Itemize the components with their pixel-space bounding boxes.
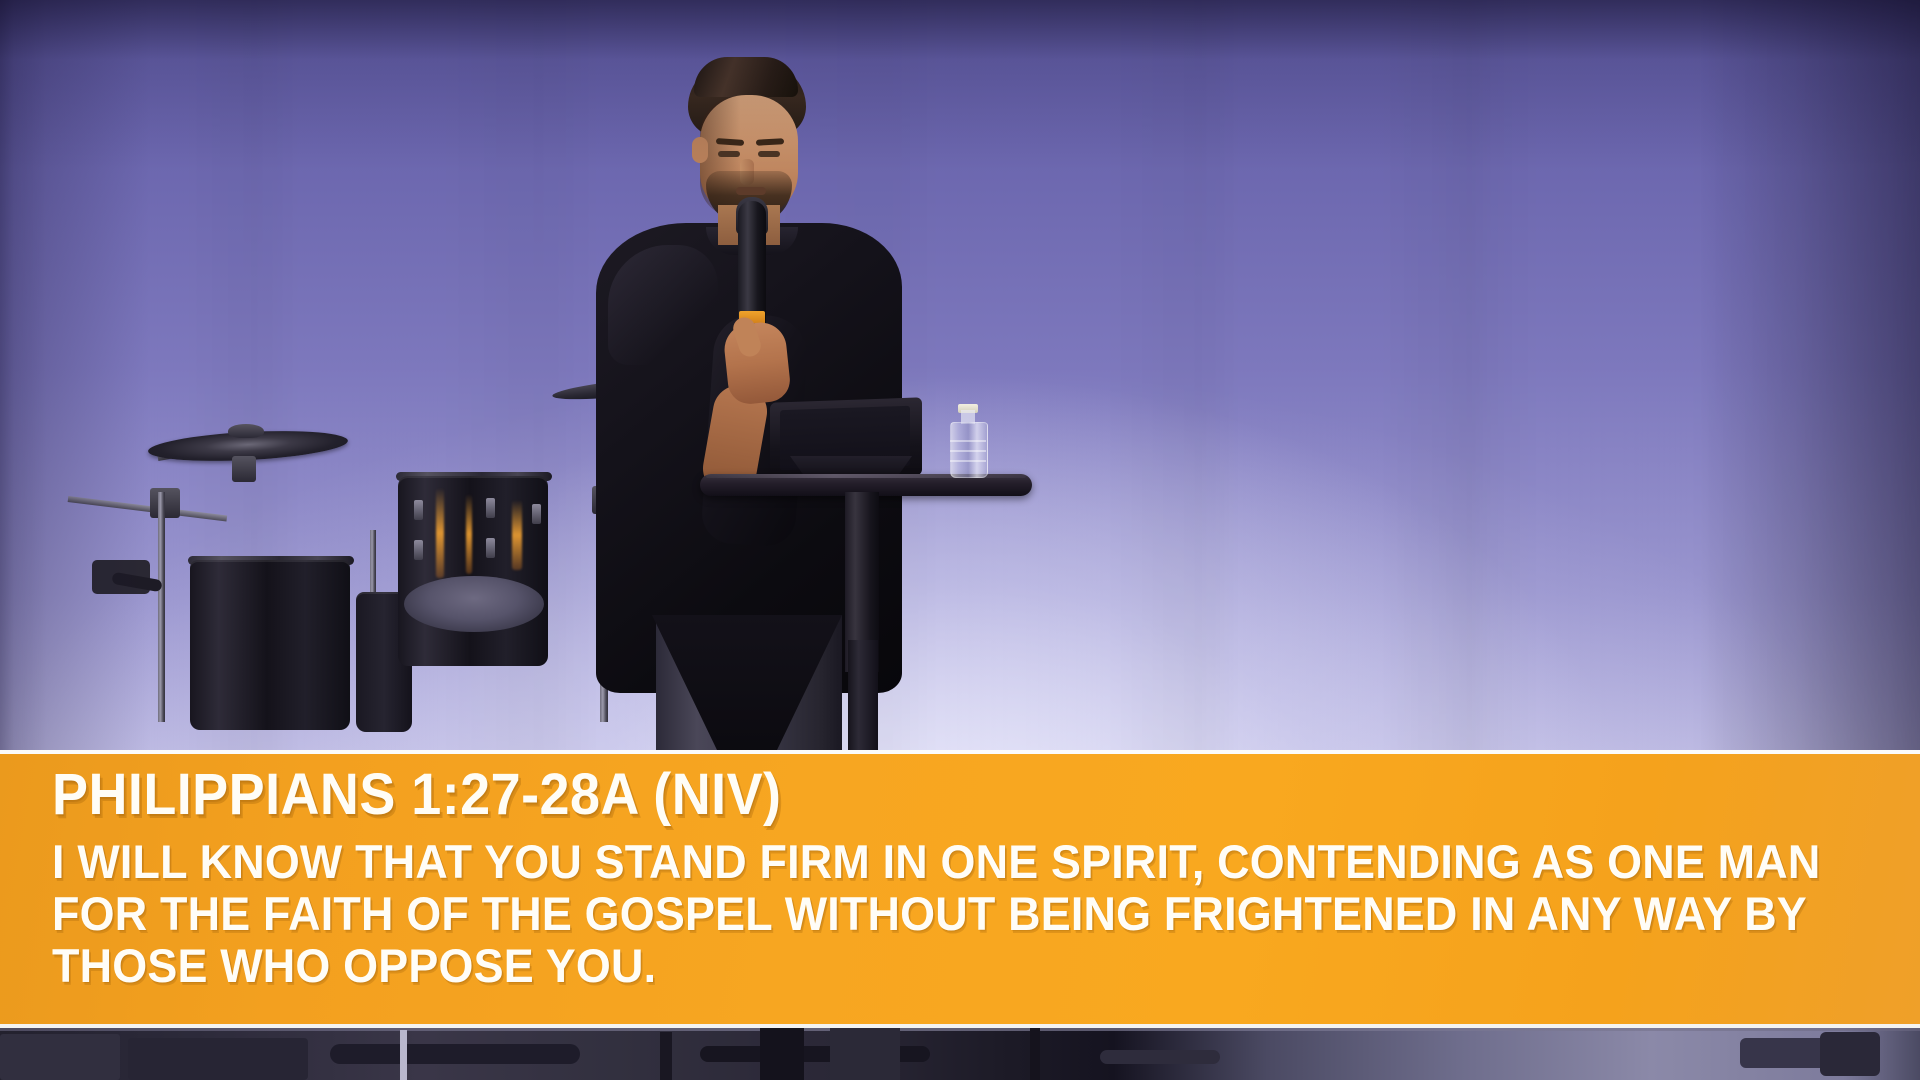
mouth [736, 187, 766, 195]
speaker-legs-shadow [830, 1028, 900, 1080]
drum-lug [486, 538, 495, 558]
scripture-reference-title: PHILIPPIANS 1:27-28A (NIV) [52, 764, 781, 826]
stage-cable [330, 1044, 580, 1064]
amber-reflection [436, 488, 444, 578]
drum-lug [532, 504, 541, 524]
stage-edge [0, 1028, 1920, 1031]
stage-floor [0, 1028, 1920, 1080]
podium-base [1030, 1028, 1040, 1080]
shoulder-highlight [608, 245, 718, 365]
stand-leg [660, 1032, 672, 1080]
drum-lug [414, 540, 423, 560]
amber-reflection [466, 494, 472, 574]
drum-lug [414, 500, 423, 520]
stage-cable [1100, 1050, 1220, 1064]
eye-right [758, 151, 780, 157]
bottle-rib [950, 450, 986, 452]
verse-line-2: FOR THE FAITH OF THE GOSPEL WITHOUT BEIN… [52, 888, 1790, 940]
scripture-verse-text: I WILL KNOW THAT YOU STAND FIRM IN ONE S… [52, 836, 1790, 992]
drum-head [404, 576, 544, 632]
cymbal-bell [228, 424, 264, 438]
stage-equipment [1820, 1032, 1880, 1076]
cymbal-stand [158, 492, 165, 722]
stage-equipment [760, 1028, 804, 1080]
drum-lug [486, 498, 495, 518]
floor-tom [190, 560, 350, 730]
stage-equipment [0, 1034, 120, 1080]
ear [692, 137, 708, 163]
banner-content: PHILIPPIANS 1:27-28A (NIV) I WILL KNOW T… [0, 754, 1920, 1024]
amber-reflection [512, 500, 522, 570]
video-frame: PHILIPPIANS 1:27-28A (NIV) I WILL KNOW T… [0, 0, 1920, 1080]
speaker-hair-top [694, 57, 798, 97]
stand-clamp [150, 488, 180, 518]
cymbal-clamp [232, 456, 256, 482]
eye-left [718, 151, 740, 157]
stage-equipment [128, 1038, 308, 1080]
bottle-rib [950, 460, 986, 462]
banner-bottom-rule [0, 1024, 1920, 1028]
scripture-lower-third: PHILIPPIANS 1:27-28A (NIV) I WILL KNOW T… [0, 750, 1920, 1028]
cymbal-boom-arm [68, 496, 228, 521]
stand-leg [400, 1030, 407, 1080]
bottle-rib [950, 440, 986, 442]
verse-line-1: I WILL KNOW THAT YOU STAND FIRM IN ONE S… [52, 836, 1790, 888]
verse-line-3: THOSE WHO OPPOSE YOU. [52, 940, 1790, 992]
